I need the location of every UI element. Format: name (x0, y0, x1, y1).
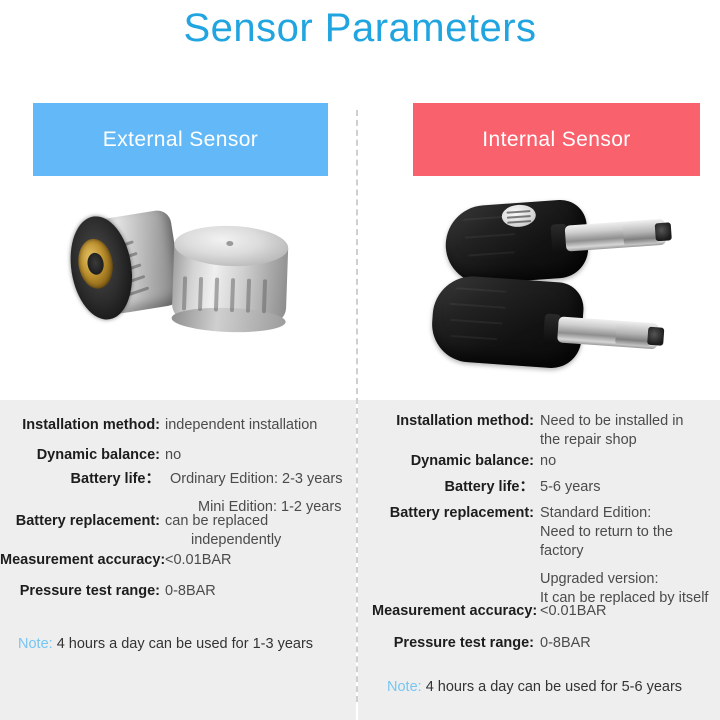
note-external: Note: 4 hours a day can be used for 1-3 … (18, 635, 313, 654)
sensor-valve-tip (655, 222, 672, 241)
spec-value: <0.01BAR (165, 551, 355, 570)
spec-value: can be replaced independently (165, 512, 355, 550)
spec-value-line: the repair shop (540, 431, 720, 450)
spec-value: 0-8BAR (540, 634, 720, 653)
column-divider (356, 110, 358, 702)
spec-row: Installation method: independent install… (0, 416, 355, 435)
spec-value: 0-8BAR (165, 582, 355, 601)
spec-label: Battery life： (372, 478, 534, 497)
spec-label: Measurement accuracy: (372, 602, 534, 621)
spec-label: Pressure test range: (372, 634, 534, 653)
spec-value-line: can be replaced (165, 512, 355, 531)
external-sensor-photo (55, 196, 305, 376)
spec-row: Pressure test range: 0-8BAR (0, 582, 355, 601)
spec-value: independent installation (165, 416, 355, 435)
sensor-valve-tip (647, 327, 664, 346)
spec-row: Installation method: Need to be installe… (372, 412, 720, 450)
spec-row: Dynamic balance: no (0, 446, 355, 465)
spec-row: Measurement accuracy: <0.01BAR (372, 602, 720, 621)
spec-row: Battery replacement: Standard Edition: N… (372, 504, 720, 608)
spec-row: Dynamic balance: no (372, 452, 720, 471)
spec-value: 5-6 years (540, 478, 720, 497)
spec-label: Installation method: (0, 416, 160, 435)
note-text: 4 hours a day can be used for 5-6 years (426, 679, 682, 695)
sensor-parameters-page: Sensor Parameters External Sensor (0, 0, 720, 720)
spec-label: Battery life： (0, 470, 160, 489)
note-key: Note: (18, 636, 53, 652)
spec-row: Measurement accuracy: <0.01BAR (0, 551, 355, 570)
cap-slots (178, 276, 279, 321)
spec-value-line: independently (191, 531, 355, 550)
cap-brass-ring (75, 236, 116, 291)
spec-label: Measurement accuracy: (0, 551, 160, 570)
header-internal-label: Internal Sensor (482, 128, 630, 152)
spec-row: Pressure test range: 0-8BAR (372, 634, 720, 653)
spec-value-line: Upgraded version: (540, 570, 720, 589)
spec-value-line: Need to return to the (540, 523, 720, 542)
spec-value: no (165, 446, 355, 465)
spec-value-line: Ordinary Edition: 2-3 years (170, 470, 365, 489)
header-external-label: External Sensor (103, 128, 258, 152)
spec-row: Battery life： Ordinary Edition: 2-3 year… (0, 470, 365, 517)
spec-value: Standard Edition: Need to return to the … (540, 504, 720, 608)
spec-value-line: Need to be installed in (540, 412, 720, 431)
spec-value: no (540, 452, 720, 471)
spec-value: Ordinary Edition: 2-3 years Mini Edition… (170, 470, 365, 517)
spec-value: <0.01BAR (540, 602, 720, 621)
spec-label: Dynamic balance: (372, 452, 534, 471)
sensor-valve-nut (615, 322, 650, 346)
spec-row: Battery life： 5-6 years (372, 478, 720, 497)
spec-value: Need to be installed in the repair shop (540, 412, 720, 450)
page-title: Sensor Parameters (0, 6, 720, 51)
note-text: 4 hours a day can be used for 1-3 years (57, 636, 313, 652)
note-key: Note: (387, 679, 422, 695)
spec-row: Battery replacement: can be replaced ind… (0, 512, 355, 550)
internal-sensor-photo (432, 190, 690, 390)
internal-sensor-lower (428, 266, 675, 392)
spec-value-line: Standard Edition: (540, 504, 720, 523)
spec-label: Battery replacement: (372, 504, 534, 523)
external-sensor-cap-upright (169, 224, 291, 338)
spec-label: Pressure test range: (0, 582, 160, 601)
spec-value-line: factory (540, 542, 720, 561)
spec-label: Installation method: (372, 412, 534, 431)
spec-label: Battery replacement: (0, 512, 160, 531)
spec-label: Dynamic balance: (0, 446, 160, 465)
note-internal: Note: 4 hours a day can be used for 5-6 … (387, 678, 682, 697)
header-internal-sensor: Internal Sensor (413, 103, 700, 176)
sensor-valve-nut (623, 221, 658, 245)
header-external-sensor: External Sensor (33, 103, 328, 176)
